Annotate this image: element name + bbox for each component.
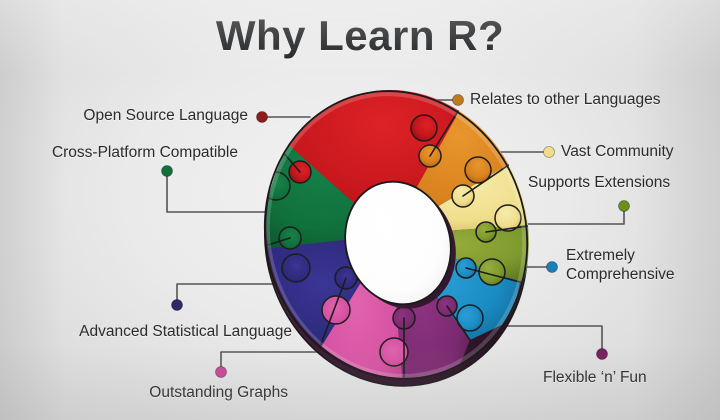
dot-cross-platform (162, 166, 173, 177)
label-cross-platform: Cross-Platform Compatible (52, 143, 238, 162)
dot-advanced-statistical (172, 300, 183, 311)
label-vast-community: Vast Community (561, 142, 674, 161)
dot-relates-languages (453, 95, 464, 106)
label-advanced-statistical: Advanced Statistical Language (79, 322, 292, 341)
label-extremely-comprehensive: Extremely Comprehensive (566, 246, 696, 284)
label-outstanding-graphs: Outstanding Graphs (149, 383, 288, 402)
dot-supports-extensions (619, 201, 630, 212)
infographic-canvas: Why Learn R? (0, 0, 720, 420)
dot-vast-community (544, 147, 555, 158)
label-dots-layer (0, 0, 720, 420)
label-supports-extensions: Supports Extensions (528, 173, 670, 192)
dot-extremely-comprehensive (547, 262, 558, 273)
dot-outstanding-graphs (216, 367, 227, 378)
dot-open-source (257, 112, 268, 123)
label-relates-languages: Relates to other Languages (470, 90, 660, 109)
label-open-source: Open Source Language (83, 106, 248, 125)
dot-flexible-fun (597, 349, 608, 360)
label-flexible-fun: Flexible ‘n’ Fun (543, 368, 647, 387)
